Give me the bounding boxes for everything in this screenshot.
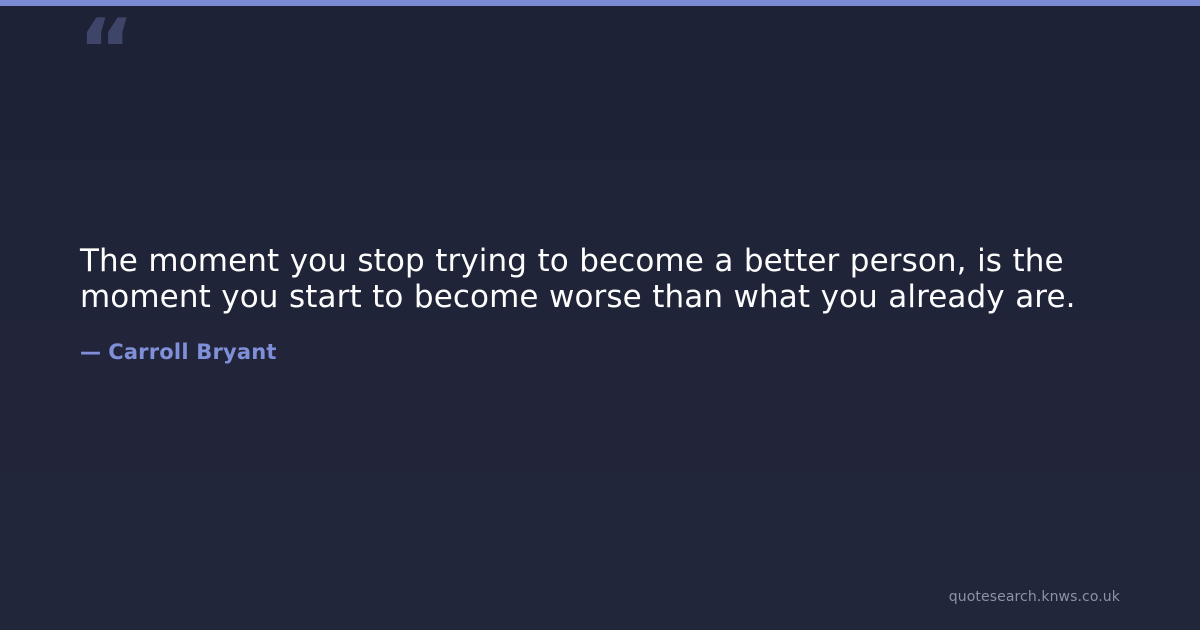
- site-watermark: quotesearch.knws.co.uk: [949, 588, 1120, 606]
- quote-card: “ The moment you stop trying to become a…: [0, 0, 1200, 630]
- attribution-author-name: Carroll Bryant: [108, 340, 276, 364]
- open-quote-icon: “: [78, 8, 133, 94]
- background-banding-overlay: [0, 0, 1200, 630]
- top-accent-bar: [0, 0, 1200, 6]
- quote-attribution: —Carroll Bryant: [80, 338, 277, 366]
- quote-text: The moment you stop trying to become a b…: [80, 243, 1140, 315]
- quote-line-2: moment you start to become worse than wh…: [80, 279, 1076, 315]
- quote-body: The moment you stop trying to become a b…: [80, 243, 1140, 315]
- attribution-dash: —: [80, 340, 101, 364]
- quote-line-1: The moment you stop trying to become a b…: [80, 243, 1064, 279]
